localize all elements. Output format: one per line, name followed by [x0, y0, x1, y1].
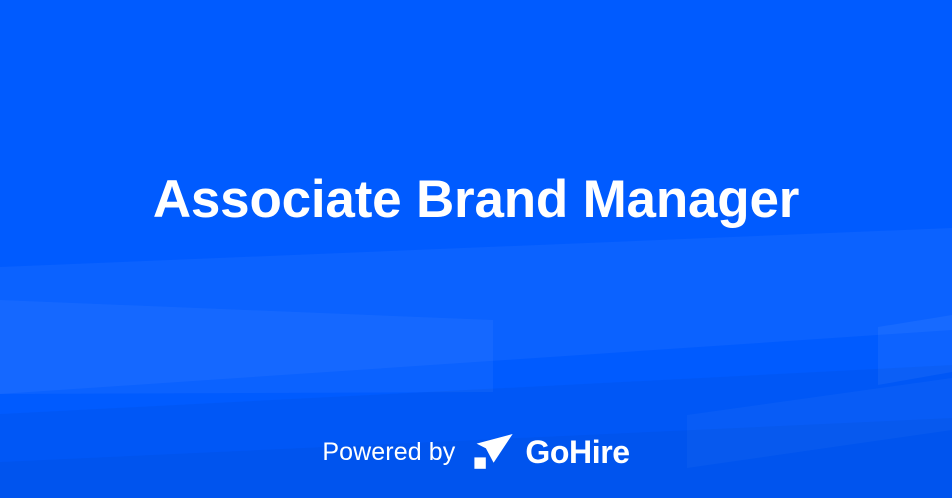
job-title-container: Associate Brand Manager — [0, 0, 952, 400]
gohire-wordmark: GoHire — [525, 436, 629, 468]
powered-by-label: Powered by — [322, 440, 455, 465]
card-content: Associate Brand Manager Powered by GoHir… — [0, 0, 952, 498]
paper-plane-icon — [472, 432, 516, 472]
job-share-card: Associate Brand Manager Powered by GoHir… — [0, 0, 952, 498]
gohire-logo[interactable]: GoHire — [472, 432, 629, 472]
page-title: Associate Brand Manager — [153, 170, 799, 229]
card-footer: Powered by GoHire — [0, 432, 952, 472]
